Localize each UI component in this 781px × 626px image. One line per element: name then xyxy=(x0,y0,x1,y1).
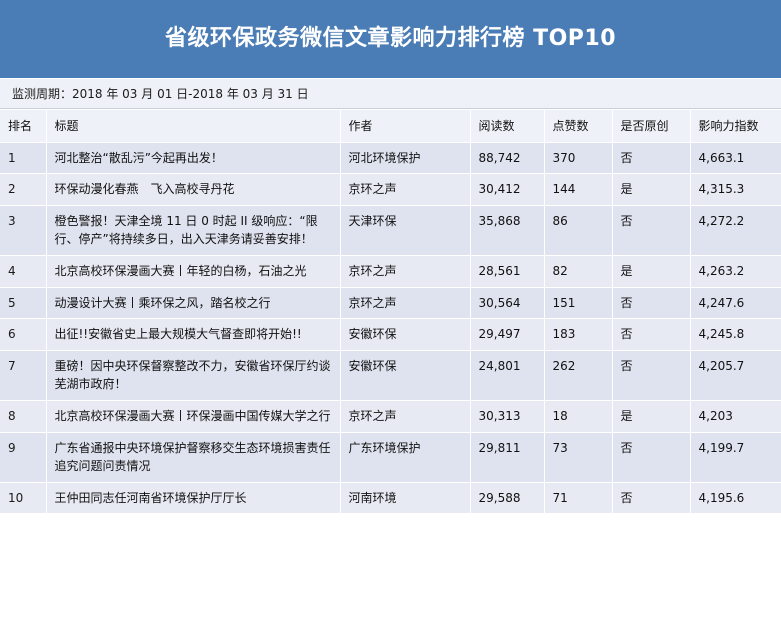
cell-likes: 82 xyxy=(544,255,612,287)
cell-reads: 24,801 xyxy=(470,350,544,400)
cell-author: 河北环境保护 xyxy=(340,142,470,174)
cell-likes: 183 xyxy=(544,319,612,351)
column-header-reads[interactable]: 阅读数 xyxy=(470,110,544,142)
cell-index: 4,663.1 xyxy=(690,142,781,174)
cell-likes: 151 xyxy=(544,287,612,319)
cell-rank: 5 xyxy=(0,287,46,319)
table-row[interactable]: 6出征!!安徽省史上最大规模大气督查即将开始!!安徽环保29,497183否4,… xyxy=(0,319,781,351)
cell-reads: 30,412 xyxy=(470,174,544,206)
cell-original: 否 xyxy=(612,142,690,174)
cell-original: 否 xyxy=(612,205,690,255)
cell-title[interactable]: 环保动漫化春燕 飞入高校寻丹花 xyxy=(46,174,340,206)
cell-title[interactable]: 出征!!安徽省史上最大规模大气督查即将开始!! xyxy=(46,319,340,351)
cell-title[interactable]: 橙色警报！天津全境 11 日 0 时起 II 级响应：“限行、停产”将持续多日，… xyxy=(46,205,340,255)
table-row[interactable]: 5动漫设计大赛丨乘环保之风，踏名校之行京环之声30,564151否4,247.6 xyxy=(0,287,781,319)
table-header: 排名 标题 作者 阅读数 点赞数 是否原创 影响力指数 xyxy=(0,110,781,142)
cell-index: 4,205.7 xyxy=(690,350,781,400)
cell-index: 4,272.2 xyxy=(690,205,781,255)
cell-original: 否 xyxy=(612,350,690,400)
cell-index: 4,315.3 xyxy=(690,174,781,206)
cell-reads: 29,497 xyxy=(470,319,544,351)
ranking-page: 省级环保政务微信文章影响力排行榜 TOP10 监测周期：2018 年 03 月 … xyxy=(0,0,781,626)
table-row[interactable]: 8北京高校环保漫画大赛丨环保漫画中国传媒大学之行京环之声30,31318是4,2… xyxy=(0,400,781,432)
cell-rank: 1 xyxy=(0,142,46,174)
cell-original: 是 xyxy=(612,400,690,432)
cell-likes: 18 xyxy=(544,400,612,432)
cell-reads: 29,811 xyxy=(470,432,544,482)
cell-author: 安徽环保 xyxy=(340,350,470,400)
cell-reads: 88,742 xyxy=(470,142,544,174)
cell-reads: 30,313 xyxy=(470,400,544,432)
cell-author: 广东环境保护 xyxy=(340,432,470,482)
cell-index: 4,247.6 xyxy=(690,287,781,319)
cell-original: 是 xyxy=(612,174,690,206)
cell-title[interactable]: 王仲田同志任河南省环境保护厅厅长 xyxy=(46,482,340,514)
cell-reads: 29,588 xyxy=(470,482,544,514)
cell-original: 否 xyxy=(612,432,690,482)
cell-likes: 86 xyxy=(544,205,612,255)
cell-author: 天津环保 xyxy=(340,205,470,255)
table-row[interactable]: 10王仲田同志任河南省环境保护厅厅长河南环境29,58871否4,195.6 xyxy=(0,482,781,514)
cell-rank: 10 xyxy=(0,482,46,514)
cell-author: 安徽环保 xyxy=(340,319,470,351)
column-header-author[interactable]: 作者 xyxy=(340,110,470,142)
cell-author: 京环之声 xyxy=(340,287,470,319)
cell-title[interactable]: 广东省通报中央环境保护督察移交生态环境损害责任追究问题问责情况 xyxy=(46,432,340,482)
table-row[interactable]: 9广东省通报中央环境保护督察移交生态环境损害责任追究问题问责情况广东环境保护29… xyxy=(0,432,781,482)
cell-author: 京环之声 xyxy=(340,400,470,432)
cell-rank: 6 xyxy=(0,319,46,351)
cell-title[interactable]: 北京高校环保漫画大赛丨环保漫画中国传媒大学之行 xyxy=(46,400,340,432)
cell-author: 京环之声 xyxy=(340,174,470,206)
table-row[interactable]: 7重磅！因中央环保督察整改不力，安徽省环保厅约谈芜湖市政府！安徽环保24,801… xyxy=(0,350,781,400)
cell-rank: 2 xyxy=(0,174,46,206)
cell-likes: 370 xyxy=(544,142,612,174)
cell-original: 否 xyxy=(612,319,690,351)
column-header-original[interactable]: 是否原创 xyxy=(612,110,690,142)
cell-title[interactable]: 河北整治“散乱污”今起再出发！ xyxy=(46,142,340,174)
table-row[interactable]: 3橙色警报！天津全境 11 日 0 时起 II 级响应：“限行、停产”将持续多日… xyxy=(0,205,781,255)
cell-original: 是 xyxy=(612,255,690,287)
cell-author: 京环之声 xyxy=(340,255,470,287)
column-header-title[interactable]: 标题 xyxy=(46,110,340,142)
cell-likes: 71 xyxy=(544,482,612,514)
cell-title[interactable]: 动漫设计大赛丨乘环保之风，踏名校之行 xyxy=(46,287,340,319)
cell-title[interactable]: 北京高校环保漫画大赛丨年轻的白杨，石油之光 xyxy=(46,255,340,287)
cell-index: 4,245.8 xyxy=(690,319,781,351)
cell-reads: 28,561 xyxy=(470,255,544,287)
monitoring-period-bar: 监测周期：2018 年 03 月 01 日-2018 年 03 月 31 日 xyxy=(0,78,781,109)
cell-likes: 73 xyxy=(544,432,612,482)
cell-index: 4,199.7 xyxy=(690,432,781,482)
column-header-rank[interactable]: 排名 xyxy=(0,110,46,142)
cell-rank: 7 xyxy=(0,350,46,400)
cell-reads: 30,564 xyxy=(470,287,544,319)
table-body: 1河北整治“散乱污”今起再出发！河北环境保护88,742370否4,663.12… xyxy=(0,142,781,514)
cell-rank: 9 xyxy=(0,432,46,482)
ranking-table: 排名 标题 作者 阅读数 点赞数 是否原创 影响力指数 1河北整治“散乱污”今起… xyxy=(0,110,781,514)
page-title: 省级环保政务微信文章影响力排行榜 TOP10 xyxy=(165,26,616,52)
cell-original: 否 xyxy=(612,482,690,514)
table-row[interactable]: 4北京高校环保漫画大赛丨年轻的白杨，石油之光京环之声28,56182是4,263… xyxy=(0,255,781,287)
column-header-index[interactable]: 影响力指数 xyxy=(690,110,781,142)
cell-rank: 3 xyxy=(0,205,46,255)
cell-rank: 4 xyxy=(0,255,46,287)
table-row[interactable]: 1河北整治“散乱污”今起再出发！河北环境保护88,742370否4,663.1 xyxy=(0,142,781,174)
cell-likes: 262 xyxy=(544,350,612,400)
cell-likes: 144 xyxy=(544,174,612,206)
ranking-table-container: 排名 标题 作者 阅读数 点赞数 是否原创 影响力指数 1河北整治“散乱污”今起… xyxy=(0,109,781,514)
column-header-likes[interactable]: 点赞数 xyxy=(544,110,612,142)
table-header-row: 排名 标题 作者 阅读数 点赞数 是否原创 影响力指数 xyxy=(0,110,781,142)
table-row[interactable]: 2环保动漫化春燕 飞入高校寻丹花京环之声30,412144是4,315.3 xyxy=(0,174,781,206)
cell-title[interactable]: 重磅！因中央环保督察整改不力，安徽省环保厅约谈芜湖市政府！ xyxy=(46,350,340,400)
cell-index: 4,263.2 xyxy=(690,255,781,287)
monitoring-period-label: 监测周期：2018 年 03 月 01 日-2018 年 03 月 31 日 xyxy=(0,85,309,102)
cell-index: 4,195.6 xyxy=(690,482,781,514)
cell-author: 河南环境 xyxy=(340,482,470,514)
page-title-banner: 省级环保政务微信文章影响力排行榜 TOP10 xyxy=(0,0,781,78)
cell-rank: 8 xyxy=(0,400,46,432)
cell-original: 否 xyxy=(612,287,690,319)
cell-reads: 35,868 xyxy=(470,205,544,255)
cell-index: 4,203 xyxy=(690,400,781,432)
